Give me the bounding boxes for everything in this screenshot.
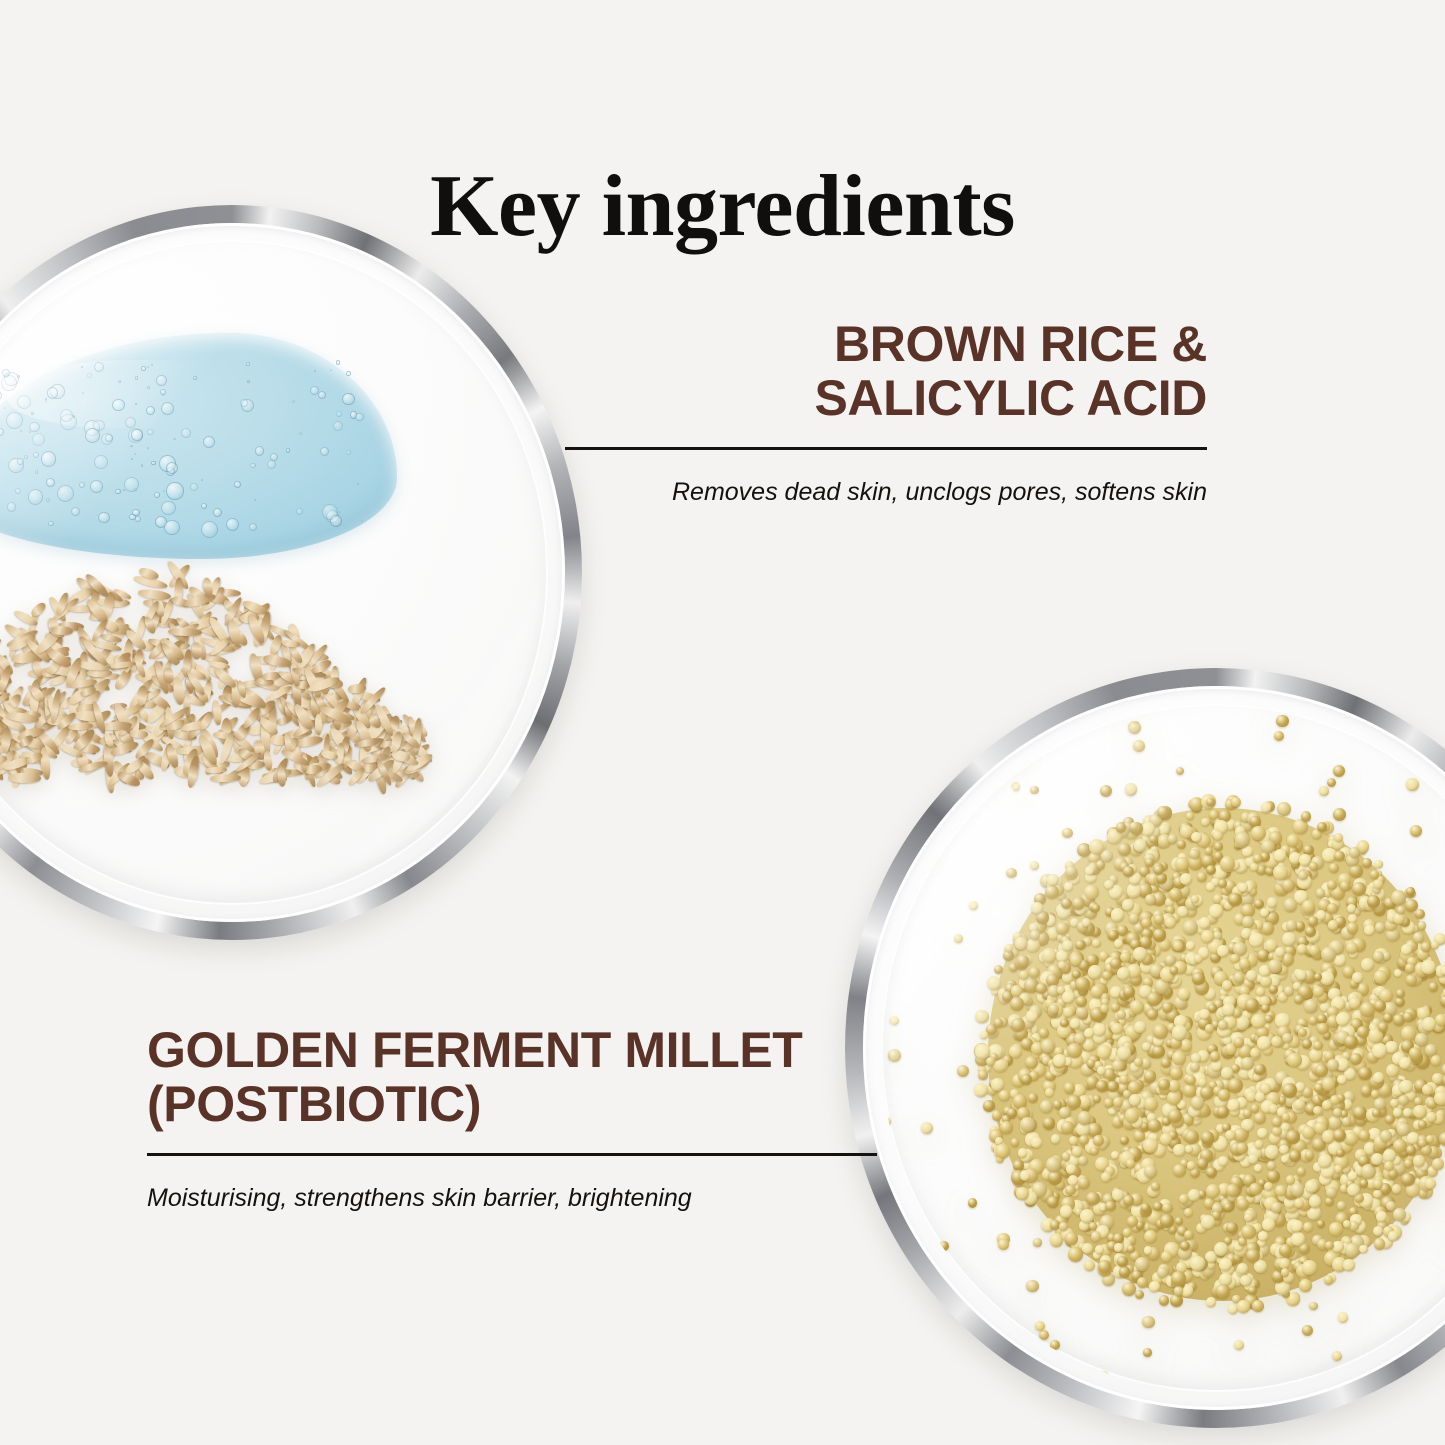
millet-seed-stray [1062,828,1073,839]
millet-seed-stray [1302,1325,1313,1336]
millet-seed [1406,887,1414,895]
millet-seed [1209,904,1223,918]
millet-seed [1241,1225,1255,1239]
millet-seed [1066,866,1076,876]
gel-bubble [333,421,343,431]
millet-seed [1111,1151,1119,1159]
millet-seed [1258,1231,1268,1241]
gel-bubble [35,470,39,474]
millet-seed-stray [1332,1351,1342,1361]
millet-seed [1431,1055,1441,1065]
millet-seed [1297,944,1307,954]
millet-seed [1324,1275,1333,1284]
millet-seed [1201,818,1210,827]
millet-seed [1045,885,1059,899]
millet-seed [1205,1024,1214,1033]
millet-seed [1287,834,1300,847]
millet-seed [1046,1157,1061,1172]
millet-seed [1401,1173,1415,1187]
millet-seed [1373,879,1383,889]
millet-seed [1199,917,1210,928]
gel-bubble [28,489,43,504]
millet-seed [1093,1135,1103,1145]
millet-seed [1352,882,1366,896]
gel-bubble [255,446,265,456]
millet-seed [1367,895,1380,908]
millet-seed [1255,1092,1265,1102]
gel-bubble [125,417,136,428]
millet-seed [1028,1093,1038,1103]
millet-seed [1151,1182,1160,1191]
millet-seed-stray [1050,1340,1060,1350]
millet-seed [1261,840,1275,854]
millet-seed [1174,1286,1184,1296]
millet-seed [1114,939,1123,948]
gel-bubble [73,415,76,418]
millet-seed [1336,1149,1345,1158]
millet-seed [1199,1009,1210,1020]
millet-seed [1186,1075,1196,1085]
millet-seed [1122,899,1133,910]
millet-seed [1421,960,1435,974]
gel-bubble [193,376,197,380]
millet-seed [1404,1159,1413,1168]
gel-bubble [146,406,155,415]
gel-bubble [292,400,295,403]
millet-seed [1393,913,1405,925]
millet-seed [1185,1145,1193,1153]
millet-seed-stray [1333,765,1345,777]
millet-seed [1441,966,1445,975]
millet-seed [1374,1238,1385,1249]
millet-seed-stray [1006,868,1016,878]
millet-seed [1267,897,1278,908]
millet-seed [1401,1026,1416,1041]
gel-bubble [161,402,174,415]
millet-seed-stray [1030,861,1039,870]
millet-seed [1088,965,1101,978]
millet-seed [1144,1246,1152,1254]
millet-seed [1041,1039,1055,1053]
millet-seed [1260,908,1269,917]
gel-bubble [131,429,142,440]
millet-seed [1165,917,1175,927]
millet-seed [1178,988,1190,1000]
rice-grain [138,588,171,601]
millet-seed [1418,921,1427,930]
millet-seed [1279,1244,1292,1257]
millet-seed [1114,1243,1122,1251]
ingredient-divider [147,1153,877,1156]
millet-seed [1120,952,1131,963]
gel-bubble [29,422,39,432]
ingredient-block-millet: GOLDEN FERMENT MILLET (POSTBIOTIC) Moist… [147,1024,877,1216]
millet-seed [1347,922,1359,934]
millet-seed-stray [1318,1376,1329,1387]
millet-seed [1257,1128,1268,1139]
millet-seed [1047,874,1058,885]
millet-seed [1167,1091,1181,1105]
millet-seed [1093,1095,1101,1103]
millet-seed [1334,954,1345,965]
millet-seed [1093,1023,1105,1035]
gel-bubble [17,395,31,409]
millet-seed [1345,1243,1360,1258]
millet-seed [1020,1170,1030,1180]
gel-bubble [81,366,83,368]
millet-seed [1111,1023,1122,1034]
gel-bubble [163,490,165,492]
millet-seed [1082,918,1090,926]
millet-seed [1160,1133,1172,1145]
ingredient-description: Removes dead skin, unclogs pores, soften… [565,476,1207,510]
millet-seed [1282,932,1296,946]
millet-seed [987,976,1001,990]
millet-seed [1236,1142,1248,1154]
millet-seed [1190,1256,1205,1271]
millet-seed-stray [998,1239,1009,1250]
millet-seed [1251,1014,1266,1029]
millet-seed [1418,1139,1426,1147]
millet-seed [1320,971,1334,985]
millet-seed-stray [1276,715,1289,728]
petri-dish-brown-rice [0,205,582,940]
millet-seed [1352,972,1363,983]
ingredient-heading: BROWN RICE & SALICYLIC ACID [565,318,1207,425]
millet-seed [1291,1232,1305,1246]
millet-seed [1217,945,1229,957]
millet-seed [1275,1185,1286,1196]
millet-seed [1248,1154,1258,1164]
millet-seed [1238,883,1247,892]
millet-seed [1313,986,1324,997]
millet-seed-stray [1026,1280,1039,1293]
millet-seed [1112,1060,1123,1071]
millet-seed [1275,947,1285,957]
millet-seed [1090,1147,1098,1155]
millet-seed [1386,1064,1399,1077]
millet-seed [1078,1111,1091,1124]
millet-seed [1222,1003,1235,1016]
millet-seed-stray [1142,1316,1154,1328]
millet-seed [1086,1192,1099,1205]
millet-seed [1256,987,1265,996]
millet-seed [1183,920,1198,935]
millet-seed [1228,1078,1243,1093]
millet-seed [1120,1136,1129,1145]
millet-seed [1391,890,1406,905]
millet-seed [1237,1300,1249,1312]
millet-seed [1279,1145,1288,1154]
millet-seed-stray [969,901,978,910]
millet-seed [1061,898,1073,910]
millet-seed [1085,866,1094,875]
millet-seed [1228,893,1242,907]
ingredient-divider [565,447,1207,450]
millet-seed [1075,977,1090,992]
millet-seed [1080,1209,1094,1223]
millet-seed [1189,849,1199,859]
millet-seed [1026,1010,1038,1022]
millet-seed [1011,1018,1025,1032]
millet-seed [1359,1130,1370,1141]
gel-bubble [361,520,363,522]
millet-seed [1373,1190,1381,1198]
millet-seed [1233,1128,1247,1142]
gel-bubble [46,478,55,487]
millet-seed [1374,970,1388,984]
millet-seed [1187,1161,1195,1169]
millet-seed [1289,1150,1301,1162]
millet-seed [1286,920,1297,931]
millet-seed [1294,995,1303,1004]
millet-seed-stray [1309,1302,1317,1310]
brown-rice-grains [0,573,422,779]
millet-seed [1123,866,1134,877]
millet-seed [1345,1132,1358,1145]
millet-seed [1153,1024,1168,1039]
millet-seed [1388,1231,1398,1241]
millet-seed [1296,970,1307,981]
millet-seed [1201,1215,1215,1229]
gel-bubble [240,399,247,406]
millet-seed [1255,1140,1263,1148]
millet-seed [1162,1203,1172,1213]
golden-millet-seeds [968,787,1445,1323]
millet-seed [1250,863,1259,872]
millet-seed [1422,1084,1433,1095]
millet-seed-stray [1416,1370,1427,1381]
gel-bubble [336,360,340,364]
millet-seed [1201,930,1214,943]
millet-seed-stray [1015,738,1024,747]
millet-seed [1385,1041,1397,1053]
gel-bubble [135,376,139,380]
millet-seed [1409,1047,1422,1060]
millet-seed [1241,1057,1253,1069]
millet-seed [1246,970,1257,981]
gel-bubble [226,518,239,531]
millet-seed [1329,863,1339,873]
millet-seed-stray [1176,767,1184,775]
millet-seed-stray [1100,785,1112,797]
millet-seed-stray [1128,721,1141,734]
millet-seed [1063,1007,1073,1017]
millet-seed [1434,1091,1445,1106]
gel-bubble [32,433,45,446]
millet-seed [1344,1035,1358,1049]
millet-seed [1380,1130,1392,1142]
millet-seed [1168,834,1177,843]
millet-seed [1210,1051,1220,1061]
millet-seed [1144,1230,1157,1243]
millet-seed [1201,1131,1215,1145]
millet-seed [1091,1231,1102,1242]
gel-bubble [286,448,291,453]
millet-seed [1157,1267,1168,1278]
millet-seed [1172,1025,1187,1040]
rice-grain [275,715,292,726]
millet-seed [1125,1108,1139,1122]
millet-seed [1104,880,1113,889]
millet-seed [1122,1282,1136,1296]
millet-seed [1327,1059,1339,1071]
millet-seed [1059,1222,1068,1231]
gel-bubble [339,511,341,513]
millet-seed [1092,904,1100,912]
millet-seed [1390,1099,1398,1107]
millet-seed [1392,1184,1401,1193]
millet-seed [1184,1230,1194,1240]
millet-seed [1064,1082,1076,1094]
millet-seed-stray [957,1065,969,1077]
millet-seed [1062,991,1074,1003]
millet-seed [1184,1208,1193,1217]
gel-bubble [141,366,146,371]
millet-seed [1360,1002,1375,1017]
ingredient-block-brown-rice: BROWN RICE & SALICYLIC ACID Removes dead… [565,318,1207,510]
millet-seed [1172,1051,1186,1065]
millet-seed [1359,1245,1367,1253]
millet-seed [1376,1211,1387,1222]
millet-seed [1206,1184,1220,1198]
millet-seed [1253,854,1263,864]
millet-seed [1242,916,1253,927]
gel-bubble [17,375,20,378]
millet-seed [1162,1002,1173,1013]
millet-seed [1378,1022,1388,1032]
millet-seed [978,1070,987,1079]
millet-seed [1113,1097,1123,1107]
rice-grain [112,667,134,692]
millet-seed [1134,1058,1142,1066]
millet-seed [975,1010,988,1023]
millet-seed [974,1083,988,1097]
millet-seed-stray [921,1122,933,1134]
millet-seed [1343,1259,1354,1270]
millet-seed [1315,1064,1327,1076]
gel-bubble [166,462,178,474]
millet-seed [1149,835,1157,843]
millet-seed [1205,847,1213,855]
millet-seed [1149,1281,1160,1292]
gel-bubble [85,428,100,443]
millet-seed [1067,1043,1082,1058]
blue-gel-swatch [0,333,397,559]
millet-seed [1065,1185,1076,1196]
millet-seed [1421,942,1430,951]
millet-seed [1302,900,1315,913]
millet-seed-stray [1143,1348,1152,1357]
millet-seed [1056,922,1069,935]
gel-bubble [154,492,160,498]
gel-bubble [17,458,24,465]
millet-seed [995,1144,1009,1158]
millet-seed [1192,972,1205,985]
gel-bubble [299,432,301,434]
millet-seed [1206,798,1215,807]
gel-bubble [90,480,103,493]
gel-bubble [249,523,257,531]
millet-seed [1013,1160,1024,1171]
millet-seed [1092,939,1100,947]
gel-bubble [130,445,132,447]
millet-seed [1066,1164,1075,1173]
millet-seed [1165,955,1175,965]
millet-seed [1425,1178,1437,1190]
gel-bubble [318,391,326,399]
millet-seed [1056,950,1068,962]
millet-seed [1159,1295,1169,1305]
millet-seed [1313,1041,1323,1051]
millet-seed [1170,1294,1184,1308]
millet-seed [1271,1036,1282,1047]
millet-seed [1075,940,1085,950]
millet-seed [1294,1198,1304,1208]
millet-seed [1197,872,1207,882]
millet-seed [1225,1130,1236,1141]
millet-seed-stray [1012,782,1021,791]
millet-seed [1305,1150,1315,1160]
millet-seed [1152,1045,1165,1058]
millet-seed [1261,802,1272,813]
millet-seed [1134,839,1146,851]
millet-seed [1314,973,1322,981]
millet-seed [1415,1033,1428,1046]
millet-seed [1415,909,1425,919]
millet-seed [1358,1067,1371,1080]
millet-seed [1298,1028,1307,1037]
gel-bubble [246,362,250,366]
millet-seed-stray [1030,786,1039,795]
millet-seed-stray [954,934,963,943]
millet-seed [1173,941,1183,951]
millet-seed [1089,839,1104,854]
millet-seed [1060,1205,1073,1218]
millet-seed [1029,967,1040,978]
millet-seed [1126,1159,1135,1168]
millet-seed [1048,1170,1062,1184]
millet-seed-stray [1125,783,1138,796]
infographic-canvas: Key ingredients BROWN RICE & SALICYLIC A… [0,0,1445,1445]
millet-seed [1084,885,1098,899]
millet-seed [1328,920,1338,930]
millet-seed [1405,963,1416,974]
millet-seed [1333,1108,1342,1117]
millet-seed [1169,888,1182,901]
gel-bubble [24,455,28,459]
millet-seed [1053,1054,1066,1067]
millet-seed [1218,879,1227,888]
gel-bubble [94,455,108,469]
millet-seed [1161,1058,1171,1068]
millet-seed [1398,1095,1408,1105]
millet-seed [1117,1010,1126,1019]
millet-seed [1198,1078,1207,1087]
millet-seed [1403,1012,1413,1022]
gel-bubble [160,389,166,395]
millet-seed-stray [888,1049,901,1062]
millet-seed [1393,1208,1405,1220]
millet-seed-stray [1410,825,1422,837]
millet-seed [992,1110,1002,1120]
millet-seed [1299,1279,1312,1292]
millet-seed [1318,1154,1332,1168]
millet-seed [1154,865,1163,874]
millet-seed [1076,1006,1088,1018]
millet-seed [1277,802,1291,816]
millet-seed [1407,1132,1419,1144]
